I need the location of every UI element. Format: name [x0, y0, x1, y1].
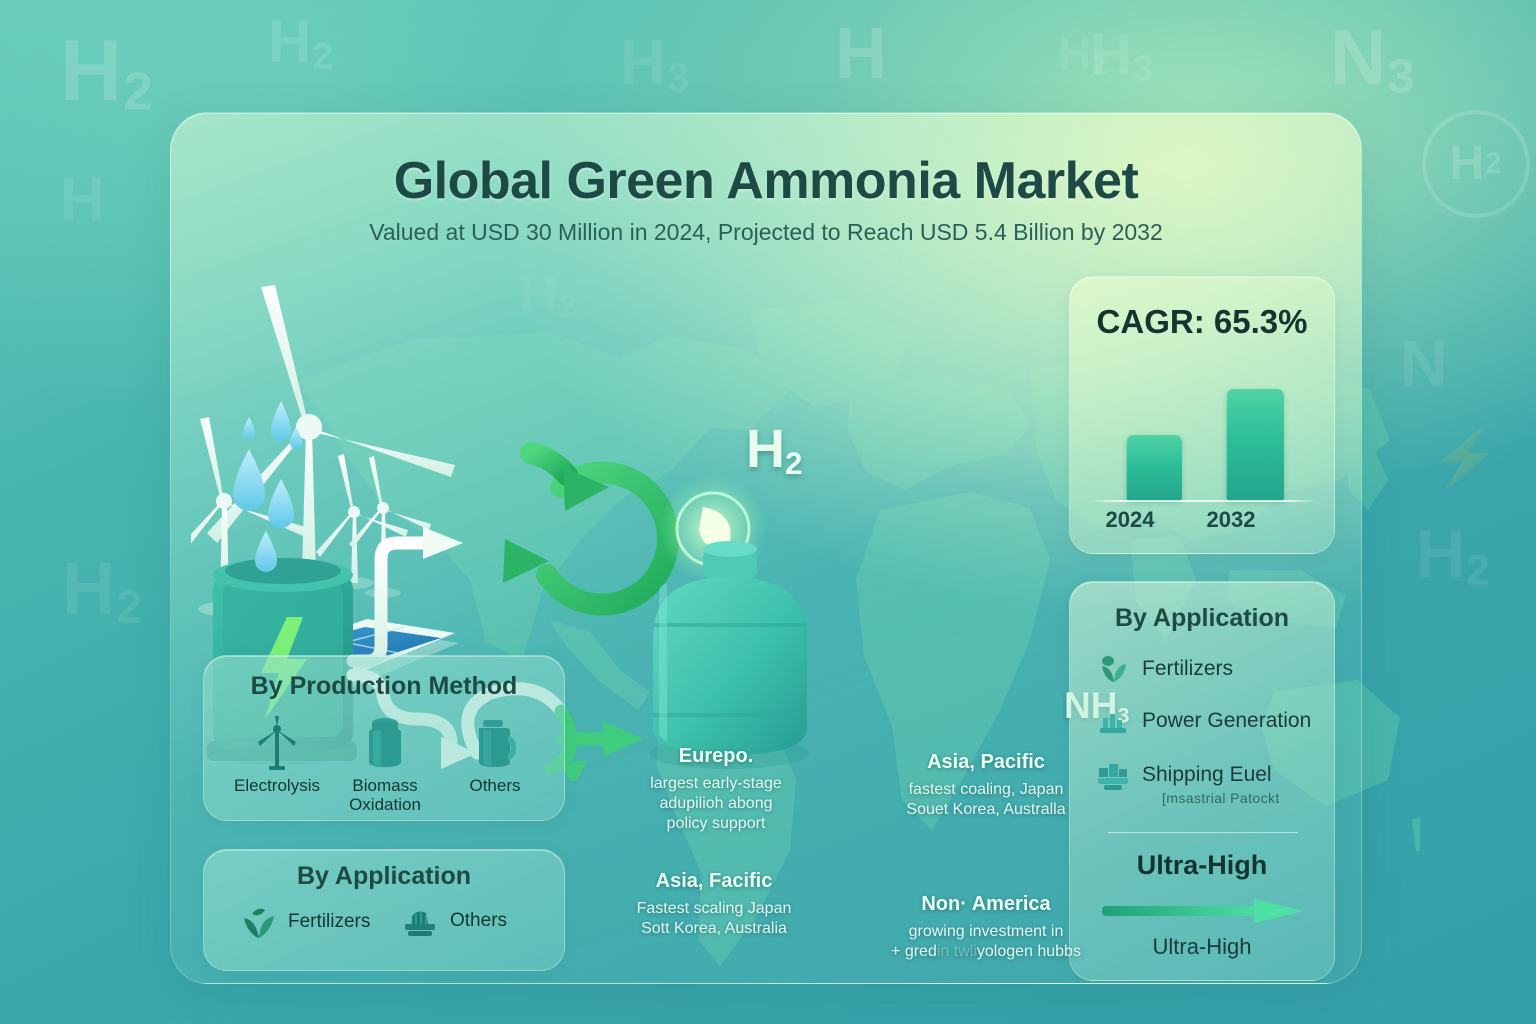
watermark-h2: H2 [1058, 30, 1109, 80]
watermark-h3: H3 [620, 30, 690, 99]
application-item-power-generation[interactable]: Power Generation [1096, 706, 1311, 736]
watermark-h2-circle: H2 [1422, 110, 1530, 218]
watermark-h: H [60, 170, 106, 232]
production-item-label: Others [440, 776, 550, 795]
region-callout-north-america: Non· America growing investment in + gre… [861, 893, 1111, 962]
application-item-label: Shipping Euel [1142, 763, 1272, 787]
plant-icon [1096, 654, 1130, 684]
power-plant-icon [1096, 706, 1130, 736]
icon-wrap [330, 712, 440, 770]
region-callout-asia-pacific-bottom: Asia, Facific Fastest scaling Japan Sott… [599, 870, 829, 939]
bar-label-2032: 2032 [1186, 507, 1276, 533]
region-name: Eurepo. [601, 745, 831, 768]
cagr-panel: CAGR: 65.3% 2024 2032 [1069, 276, 1335, 554]
factory-icon [400, 904, 440, 938]
recycle-arrows-icon [503, 453, 668, 605]
production-item-biomass-oxidation[interactable]: Biomass Oxidation [330, 712, 440, 814]
application-left-item-fertilizers[interactable]: Fertilizers [238, 904, 370, 940]
page-title: Global Green Ammonia Market [171, 151, 1361, 211]
icon-wrap [222, 712, 332, 770]
water-droplet-icon [233, 401, 302, 572]
icon-wrap [440, 712, 550, 770]
main-card: Global Green Ammonia Market Valued at US… [170, 112, 1362, 984]
right-arrow-icon [1102, 898, 1307, 924]
production-item-others[interactable]: Others [440, 712, 550, 795]
arrow-head-icon [423, 527, 463, 559]
production-item-label: Biomass Oxidation [330, 776, 440, 814]
cagr-value: CAGR: 65.3% [1070, 303, 1334, 341]
region-callout-asia-pacific-top: Asia, Pacific fastest coaling, Japan Sou… [871, 751, 1101, 820]
infographic-canvas: H2 H2 H3 H H3 N3 H2 H H2 N H2 ⚡ H2 H2 [0, 0, 1536, 1024]
panel-divider [1108, 832, 1298, 833]
h2-label: H2 [746, 418, 802, 482]
region-callout-europe: Eurepo. largest early-stage adupilioh ab… [601, 745, 831, 834]
watermark-h2: H2 [60, 28, 154, 119]
ammonia-tank-icon [649, 541, 809, 769]
wind-turbine-icon [250, 714, 304, 770]
application-left-item-label: Fertilizers [288, 911, 370, 933]
production-method-title: By Production Method [204, 672, 564, 701]
application-left-item-label: Others [450, 910, 507, 932]
jar-icon [361, 714, 409, 770]
production-item-label: Electrolysis [222, 776, 332, 795]
application-panel-left-title: By Application [204, 862, 564, 891]
region-name: Asia, Facific [599, 870, 829, 893]
region-desc-mixed: + gredin twliyologen hubbs [861, 942, 1111, 962]
application-panel-left: By Application Fertilizers [203, 849, 565, 971]
bar-label-2024: 2024 [1085, 507, 1175, 533]
production-method-panel: By Production Method Electrolysis [203, 655, 565, 821]
cagr-bar-chart [1094, 361, 1312, 501]
application-item-fertilizers[interactable]: Fertilizers [1096, 654, 1233, 684]
watermark-h: H [835, 18, 888, 90]
region-name: Asia, Pacific [871, 751, 1101, 774]
application-item-label: Power Generation [1142, 709, 1311, 733]
region-desc: largest early-stage adupilioh abong poli… [601, 774, 831, 834]
application-item-label: Fertilizers [1142, 657, 1233, 681]
watermark-h2: H2 [62, 552, 143, 630]
jug-icon [470, 714, 520, 770]
production-item-electrolysis[interactable]: Electrolysis [222, 712, 332, 795]
ultra-high-title: Ultra-High [1070, 850, 1334, 881]
region-name: Non· America [861, 893, 1111, 916]
watermark-n3: N3 [1330, 18, 1415, 101]
watermark-bolt-icon: ⚡ [1430, 430, 1501, 486]
region-desc: Fastest scaling Japan Sott Korea, Austra… [599, 899, 829, 939]
bar-2032 [1226, 389, 1284, 501]
chart-axis [1088, 500, 1318, 502]
bar-2024 [1126, 435, 1182, 501]
application-panel-right-title: By Application [1070, 604, 1334, 633]
plant-icon [238, 904, 278, 940]
factory-icon [1096, 758, 1130, 792]
application-left-item-others[interactable]: Others [400, 904, 507, 938]
application-item-shipping-fuel[interactable]: Shipping Euel [1096, 758, 1272, 792]
application-sub-label: [msastrial Patockt [1162, 790, 1280, 806]
region-desc: fastest coaling, Japan Souet Korea, Aust… [871, 780, 1101, 820]
watermark-h2: H2 [1416, 520, 1491, 592]
region-desc: growing investment in + gredin twliyolog… [861, 922, 1111, 962]
watermark-h2: H2 [268, 12, 334, 75]
